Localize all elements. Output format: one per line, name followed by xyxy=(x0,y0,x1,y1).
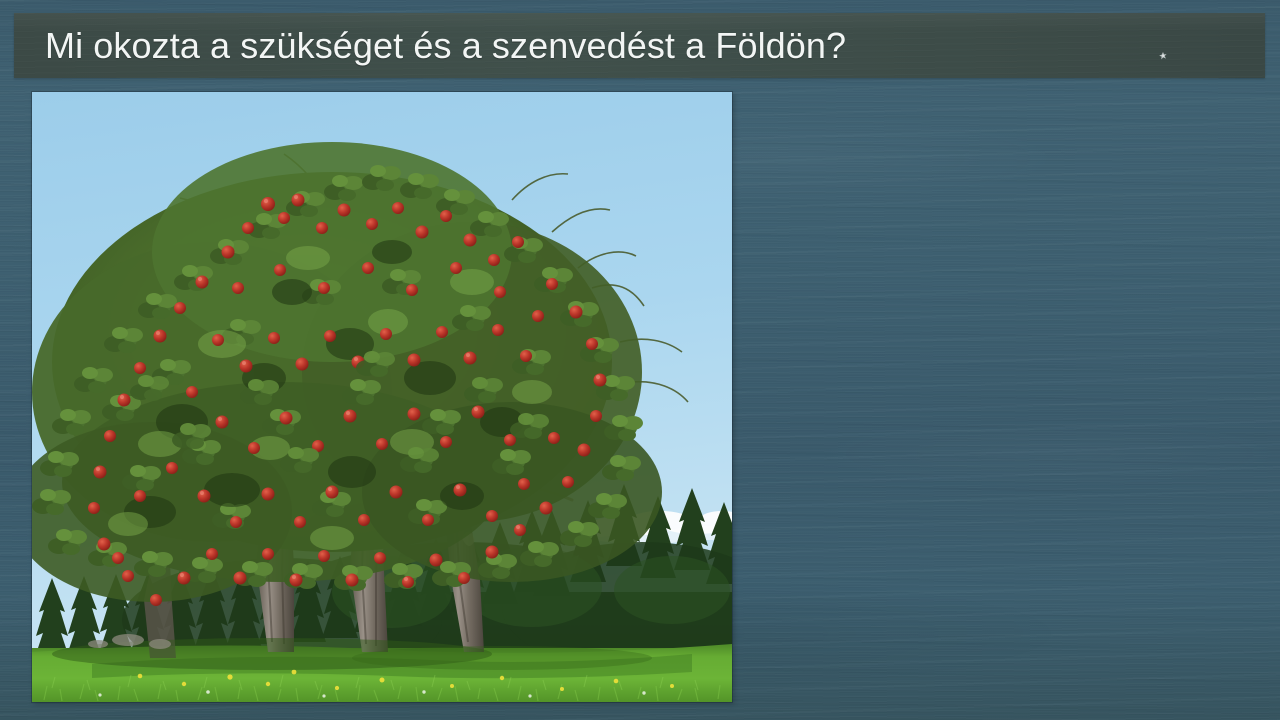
slide-title: Mi okozta a szükséget és a szenvedést a … xyxy=(45,13,846,78)
title-bar[interactable]: Mi okozta a szükséget és a szenvedést a … xyxy=(14,13,1265,78)
presentation-slide: Mi okozta a szükséget és a szenvedést a … xyxy=(0,0,1280,720)
apple-tree-photo xyxy=(32,92,732,702)
slide-picture-apple-tree[interactable] xyxy=(32,92,732,702)
